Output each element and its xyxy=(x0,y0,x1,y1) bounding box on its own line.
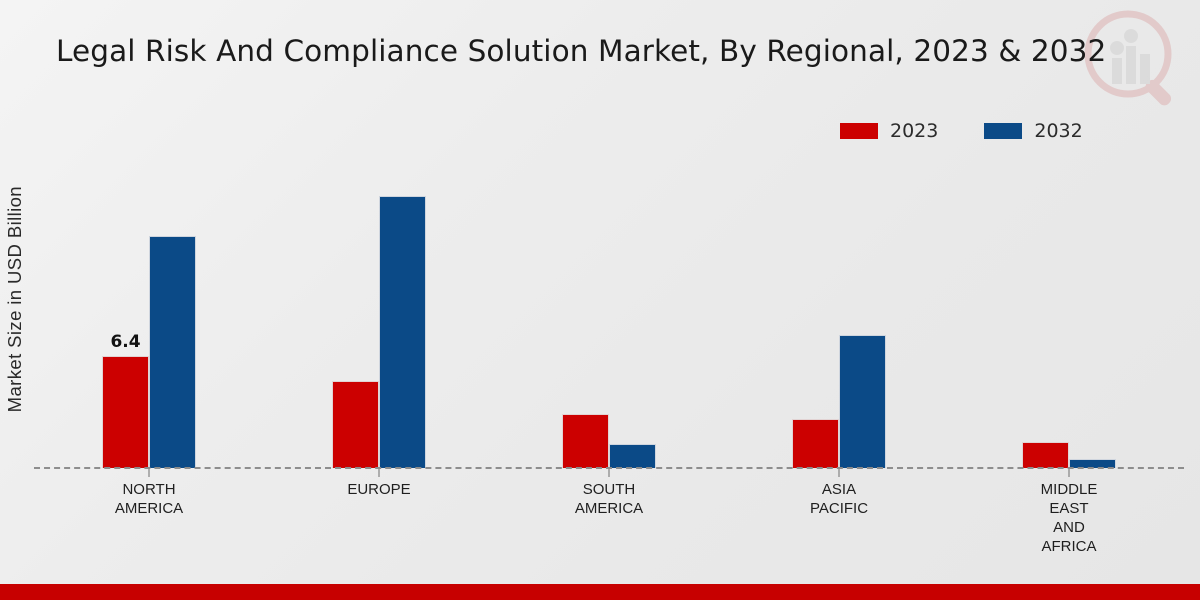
x-axis-baseline xyxy=(34,467,1184,469)
legend-swatch-2023 xyxy=(840,123,878,139)
plot-area: 6.4NORTHAMERICAEUROPESOUTHAMERICAASIAPAC… xyxy=(34,180,1184,468)
bar-pair xyxy=(494,180,724,468)
x-axis-category-label: ASIAPACIFIC xyxy=(810,480,868,518)
bar-group: ASIAPACIFIC xyxy=(724,180,954,468)
x-axis-category-label: NORTHAMERICA xyxy=(115,480,183,518)
x-axis-tick xyxy=(839,468,840,477)
bar-2023-north-america[interactable]: 6.4 xyxy=(102,356,149,468)
x-axis-tick xyxy=(379,468,380,477)
bar-pair xyxy=(724,180,954,468)
bar-group: SOUTHAMERICA xyxy=(494,180,724,468)
bar-groups: 6.4NORTHAMERICAEUROPESOUTHAMERICAASIAPAC… xyxy=(34,180,1184,468)
legend-item-2023[interactable]: 2023 xyxy=(840,120,938,142)
bar-2023-europe[interactable] xyxy=(332,381,379,468)
legend-swatch-2032 xyxy=(984,123,1022,139)
x-axis-category-label: EUROPE xyxy=(347,480,410,499)
footer-accent-bar xyxy=(0,584,1200,600)
bar-2032-europe[interactable] xyxy=(379,196,426,468)
x-axis-category-label: MIDDLEEASTANDAFRICA xyxy=(1041,480,1098,556)
chart-title: Legal Risk And Compliance Solution Marke… xyxy=(56,34,1106,68)
y-axis-title-text: Market Size in USD Billion xyxy=(4,186,26,412)
bar-2023-middle-east-and-africa[interactable] xyxy=(1022,442,1069,468)
bar-group: 6.4NORTHAMERICA xyxy=(34,180,264,468)
bar-2032-south-america[interactable] xyxy=(609,444,656,468)
x-axis-tick xyxy=(1069,468,1070,477)
legend-label-2032: 2032 xyxy=(1034,120,1082,142)
bar-group: EUROPE xyxy=(264,180,494,468)
y-axis-title: Market Size in USD Billion xyxy=(2,186,28,506)
legend-label-2023: 2023 xyxy=(890,120,938,142)
bar-2023-south-america[interactable] xyxy=(562,414,609,468)
bar-pair: 6.4 xyxy=(34,180,264,468)
bar-2032-asia-pacific[interactable] xyxy=(839,335,886,468)
bar-pair xyxy=(264,180,494,468)
bar-2032-north-america[interactable] xyxy=(149,236,196,468)
x-axis-tick xyxy=(609,468,610,477)
chart-canvas: Legal Risk And Compliance Solution Marke… xyxy=(0,0,1200,600)
legend-item-2032[interactable]: 2032 xyxy=(984,120,1082,142)
bar-2023-asia-pacific[interactable] xyxy=(792,419,839,468)
chart-legend: 2023 2032 xyxy=(840,120,1083,142)
bar-value-label: 6.4 xyxy=(110,332,140,352)
bar-group: MIDDLEEASTANDAFRICA xyxy=(954,180,1184,468)
x-axis-tick xyxy=(149,468,150,477)
x-axis-category-label: SOUTHAMERICA xyxy=(575,480,643,518)
bar-pair xyxy=(954,180,1184,468)
